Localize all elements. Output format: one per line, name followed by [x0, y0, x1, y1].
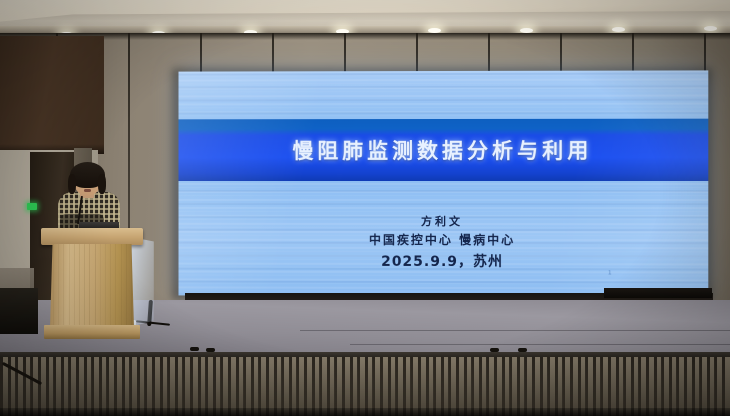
wood-grain-line: [115, 244, 116, 328]
wood-grain-line: [110, 244, 111, 328]
scanline: [178, 282, 708, 284]
stage-seam: [350, 344, 730, 345]
presenter-name: 方利文: [178, 213, 708, 229]
wood-grain-line: [53, 244, 54, 328]
presentation-date-location: 2025.9.9，苏州: [178, 251, 708, 272]
scanline: [178, 99, 708, 101]
scanline: [178, 203, 708, 204]
scanline: [178, 115, 708, 117]
scanline: [178, 107, 708, 109]
exit-sign-icon: [27, 203, 37, 210]
scanline-dark: [178, 72, 708, 75]
scanline: [178, 207, 708, 209]
wood-grain-line: [131, 244, 132, 328]
screen-scanlines: [178, 70, 708, 71]
wood-grain-line: [95, 244, 96, 328]
wood-grain-line: [84, 244, 85, 328]
scanline: [178, 74, 708, 76]
podium-base: [44, 325, 140, 339]
wood-grain-line: [74, 244, 75, 328]
scanline: [178, 187, 708, 188]
wood-grain-line: [69, 244, 70, 328]
scanline: [178, 91, 708, 93]
speaker-hair-left: [68, 174, 76, 194]
wood-grain-line: [89, 244, 90, 328]
presenter-org: 中国疾控中心 慢病中心: [178, 231, 708, 249]
scanline: [178, 78, 708, 81]
wood-grain-line: [100, 244, 101, 328]
slide-title: 慢阻肺监测数据分析与利用: [178, 119, 708, 181]
speaker-hair-right: [98, 174, 106, 194]
stage-seam: [300, 330, 730, 331]
scanline-dark: [178, 85, 708, 88]
skirt-bottom-shadow: [0, 408, 730, 416]
dark-wood-panel: [0, 36, 104, 154]
scanline: [178, 275, 708, 277]
floor-clip: [206, 348, 215, 352]
scanline-dark: [178, 112, 708, 115]
scanline: [178, 278, 708, 281]
title-band: 慢阻肺监测数据分析与利用: [178, 119, 708, 181]
downlight-icon: [704, 26, 717, 31]
scanline: [178, 95, 708, 98]
podium-body: [50, 244, 134, 328]
floor-clip: [490, 348, 499, 352]
presentation-screen: 慢阻肺监测数据分析与利用 方利文 中国疾控中心 慢病中心 2025.9.9，苏州…: [178, 70, 708, 296]
scanline: [178, 70, 708, 73]
wood-grain-line: [126, 244, 127, 328]
podium-top: [41, 228, 143, 245]
wood-grain-line: [63, 244, 64, 328]
scanline: [178, 82, 708, 84]
scanline: [178, 191, 708, 193]
scanline: [178, 195, 708, 196]
screen-base-riser: [604, 288, 712, 298]
speaker-mouth: [84, 189, 91, 192]
scanline: [178, 86, 708, 89]
scanline: [178, 103, 708, 106]
floor-clip: [190, 347, 199, 351]
scanline-dark: [178, 99, 708, 102]
scanline: [178, 199, 708, 201]
scanline-dark: [178, 203, 708, 205]
scanline: [178, 111, 708, 114]
slide-number: 1: [608, 270, 611, 276]
scanline: [178, 183, 708, 185]
wall-top-shadow: [0, 33, 730, 40]
scanline-dark: [178, 190, 708, 192]
floor-equipment: [0, 288, 38, 334]
floor-clip: [518, 348, 527, 352]
downlight-icon: [612, 27, 625, 32]
wood-grain-line: [121, 244, 122, 328]
stage-skirt: [0, 357, 730, 416]
conference-hall-scene: 慢阻肺监测数据分析与利用 方利文 中国疾控中心 慢病中心 2025.9.9，苏州…: [0, 0, 730, 416]
wood-grain-line: [105, 244, 106, 328]
scanline-dark: [178, 280, 708, 283]
wood-grain-line: [79, 244, 80, 328]
wood-grain-line: [58, 244, 59, 328]
downlight-icon: [520, 28, 533, 33]
